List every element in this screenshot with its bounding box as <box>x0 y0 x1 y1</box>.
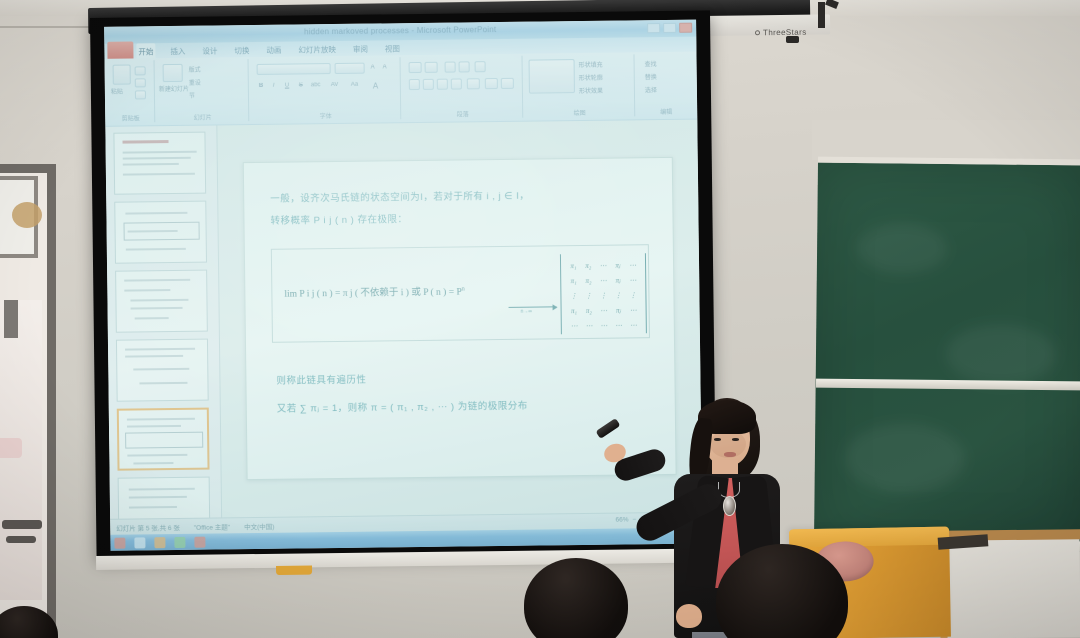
ribbon-group-clipboard: 粘贴 剪贴板 <box>107 60 156 123</box>
slide-conclusion-2: 又若 ∑ πⱼ = 1，则称 π = ( π₁ , π₂ , ⋯ ) 为链的极限… <box>277 398 528 415</box>
align-center-icon[interactable] <box>423 79 434 90</box>
list-item[interactable] <box>114 201 207 264</box>
font-family-dropdown[interactable] <box>257 63 331 75</box>
align-left-icon[interactable] <box>409 79 420 90</box>
bullets-icon[interactable] <box>409 62 422 73</box>
ribbon-group-paragraph: 段落 <box>403 56 524 119</box>
ppt-file-orb[interactable] <box>107 41 133 58</box>
new-slide-label[interactable]: 新建幻灯片 <box>159 84 189 93</box>
decrease-indent-icon[interactable] <box>445 62 456 73</box>
change-case-icon[interactable]: Aa <box>351 82 358 88</box>
close-icon[interactable] <box>679 23 692 33</box>
shapes-gallery[interactable] <box>529 59 575 94</box>
ppt-ribbon: 粘贴 剪贴板 新建幻灯片 版式 重设 节 幻灯片 <box>104 52 697 127</box>
brand-logo-icon <box>755 31 760 36</box>
columns-icon[interactable] <box>467 78 480 89</box>
podium-side-shelf <box>939 533 1080 638</box>
layout-label[interactable]: 版式 <box>189 65 201 74</box>
bold-icon[interactable]: B <box>259 83 263 89</box>
presenter-mouth <box>724 452 736 457</box>
media-player-icon[interactable] <box>174 536 185 547</box>
decrease-font-icon[interactable]: A <box>383 64 387 70</box>
presenter-resting-hand <box>676 604 702 628</box>
list-item[interactable] <box>118 477 211 519</box>
replace-label[interactable]: 替换 <box>645 72 657 81</box>
status-language[interactable]: 中文(中国) <box>244 520 274 530</box>
arrow-label: n→∞ <box>521 309 532 315</box>
minimize-icon[interactable] <box>647 23 660 33</box>
line-spacing-icon[interactable] <box>475 61 486 72</box>
font-color-icon[interactable]: A <box>373 81 378 90</box>
text-shadow-icon[interactable]: abc <box>311 82 321 88</box>
reset-label[interactable]: 重设 <box>189 78 201 87</box>
ribbon-group-font: A A B I U S abc AV Aa A 字体 <box>251 57 402 121</box>
find-label[interactable]: 查找 <box>645 59 657 68</box>
projection-screen-pull-tab[interactable] <box>276 566 312 575</box>
blackboard <box>814 157 1080 552</box>
presenter-eye-left <box>714 438 721 441</box>
presenter-pendant <box>723 496 736 516</box>
convert-smartart-icon[interactable] <box>501 78 514 89</box>
italic-icon[interactable]: I <box>273 83 275 89</box>
ribbon-group-drawing: 形状填充 形状轮廓 形状效果 绘图 <box>524 54 635 117</box>
text-direction-icon[interactable] <box>485 78 498 89</box>
list-item[interactable] <box>116 339 209 402</box>
list-item[interactable] <box>113 132 206 195</box>
paste-icon[interactable] <box>113 65 131 85</box>
table-row: ⋮⋮⋮⋮⋮ <box>566 287 640 303</box>
slide-text-line-1: 一般，设齐次马氏链的状态空间为I，若对于所有 i , j ∈ I， <box>270 188 529 205</box>
limit-matrix: π₁π₂⋯πⱼ⋯ π₁π₂⋯πⱼ⋯ ⋮⋮⋮⋮⋮ π₁π₂⋯πⱼ⋯ <box>560 253 647 334</box>
font-size-dropdown[interactable] <box>335 63 365 74</box>
list-item[interactable] <box>115 270 208 333</box>
screen-mount-bracket <box>818 2 825 28</box>
powerpoint-taskbar-icon[interactable] <box>194 536 205 547</box>
ribbon-group-slides: 新建幻灯片 版式 重设 节 幻灯片 <box>157 59 250 122</box>
align-right-icon[interactable] <box>437 79 448 90</box>
laser-pointer-icon <box>596 418 621 439</box>
copy-icon[interactable] <box>135 78 146 87</box>
ribbon-group-label-paragraph: 段落 <box>403 109 522 119</box>
projector-brand-label: ThreeStars <box>755 28 807 38</box>
ribbon-group-label-slides: 幻灯片 <box>157 112 248 122</box>
status-theme: "Office 主题" <box>194 521 230 531</box>
shape-outline-label[interactable]: 形状轮廓 <box>579 73 603 82</box>
section-label[interactable]: 节 <box>189 91 195 100</box>
numbering-icon[interactable] <box>425 62 438 73</box>
implies-arrow-icon <box>509 306 557 308</box>
shape-fill-label[interactable]: 形状填充 <box>579 60 603 69</box>
ribbon-group-label-editing: 编辑 <box>637 107 695 117</box>
paste-label[interactable]: 粘贴 <box>111 87 123 96</box>
status-slide-indicator: 幻灯片 第 5 张,共 6 张 <box>116 521 180 532</box>
underline-icon[interactable]: U <box>285 83 289 89</box>
table-row: π₁π₂⋯πⱼ⋯ <box>567 302 641 318</box>
increase-font-icon[interactable]: A <box>371 65 375 71</box>
board-upper-wall <box>812 120 1080 160</box>
cut-icon[interactable] <box>135 66 146 75</box>
browser-icon[interactable] <box>134 537 145 548</box>
presenter-eye-right <box>732 438 739 441</box>
slide-text-line-2: 转移概率 P i j ( n ) 存在极限： <box>270 211 407 227</box>
slide-thumbnail-panel[interactable] <box>105 125 222 518</box>
table-row: ⋯⋯⋯⋯⋯ <box>567 317 641 333</box>
ribbon-group-label-clipboard: 剪贴板 <box>107 113 154 123</box>
format-painter-icon[interactable] <box>135 90 146 99</box>
ppt-window-title: hidden markoved processes - Microsoft Po… <box>304 25 496 36</box>
screen-mount-knob <box>786 36 799 43</box>
door-latch <box>2 520 42 529</box>
formula-container: lim P i j ( n ) = π j ( 不依赖于 i ) 或 P ( n… <box>271 244 650 343</box>
start-button-icon[interactable] <box>114 537 125 548</box>
door-sticker <box>0 438 22 458</box>
list-item-active[interactable] <box>117 408 210 471</box>
classroom-scene: ThreeStars hidden markoved processes - M… <box>0 0 1080 638</box>
door-latch-lower <box>6 536 36 543</box>
window-controls[interactable] <box>647 23 692 34</box>
ribbon-group-label-font: 字体 <box>251 110 400 121</box>
table-row: π₁π₂⋯πⱼ⋯ <box>566 272 640 288</box>
ribbon-group-label-drawing: 绘图 <box>525 107 634 117</box>
character-spacing-icon[interactable]: AV <box>331 82 339 88</box>
increase-indent-icon[interactable] <box>459 61 470 72</box>
folder-icon[interactable] <box>154 537 165 548</box>
new-slide-icon[interactable] <box>163 64 183 82</box>
door-handle[interactable] <box>4 300 18 338</box>
strikethrough-icon[interactable]: S <box>299 82 303 88</box>
table-row: π₁π₂⋯πⱼ⋯ <box>566 257 640 273</box>
restore-icon[interactable] <box>663 23 676 33</box>
door-window <box>0 176 38 258</box>
shape-effects-label[interactable]: 形状效果 <box>579 86 603 95</box>
justify-icon[interactable] <box>451 78 462 89</box>
ribbon-group-editing: 查找 替换 选择 编辑 <box>636 54 695 117</box>
select-label[interactable]: 选择 <box>645 85 657 94</box>
slide-conclusion-1: 则称此链具有遍历性 <box>276 372 366 387</box>
limit-formula: lim P i j ( n ) = π j ( 不依赖于 i ) 或 P ( n… <box>284 283 465 299</box>
